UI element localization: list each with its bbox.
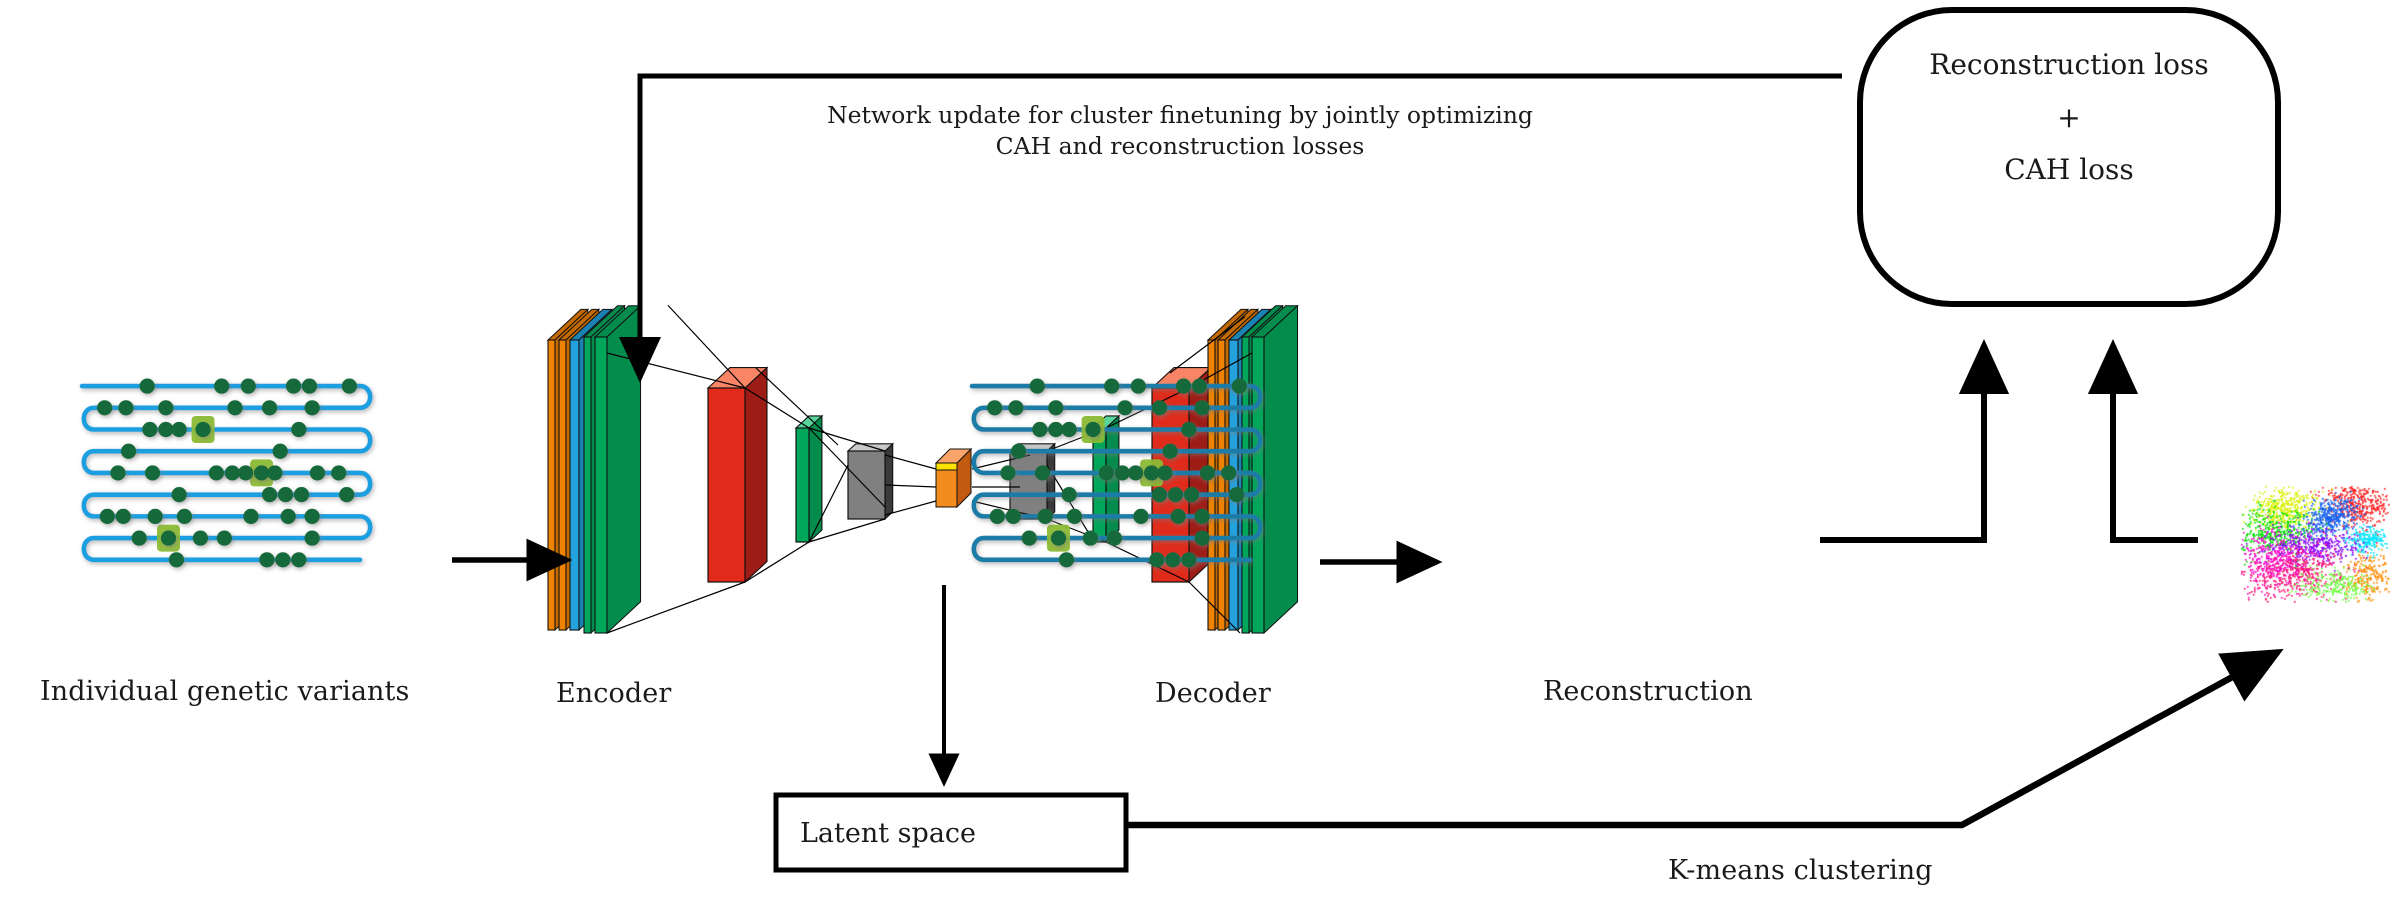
figure-canvas: Network update for cluster finetuning by… bbox=[0, 0, 2402, 902]
caption-decoder: Decoder bbox=[1155, 678, 1271, 709]
caption-reconstruction: Reconstruction bbox=[1543, 676, 1753, 707]
arrow-cah-to-loss bbox=[2113, 345, 2198, 540]
loss-bubble-line-1: Reconstruction loss bbox=[1860, 50, 2278, 79]
arrow-reconstruction-to-loss bbox=[1820, 345, 1984, 540]
network-update-line-1: Network update for cluster finetuning by… bbox=[780, 100, 1580, 131]
caption-kmeans: K-means clustering bbox=[1668, 855, 1933, 886]
caption-input: Individual genetic variants bbox=[40, 676, 409, 707]
loss-bubble-line-2: CAH loss bbox=[1860, 155, 2278, 184]
caption-encoder: Encoder bbox=[556, 678, 671, 709]
loss-bubble-operator: + bbox=[1860, 103, 2278, 132]
latent-space-label: Latent space bbox=[800, 818, 976, 849]
network-update-annotation: Network update for cluster finetuning by… bbox=[780, 100, 1580, 163]
network-update-line-2: CAH and reconstruction losses bbox=[780, 131, 1580, 162]
loss-bubble-text: Reconstruction loss + CAH loss bbox=[1860, 50, 2278, 184]
